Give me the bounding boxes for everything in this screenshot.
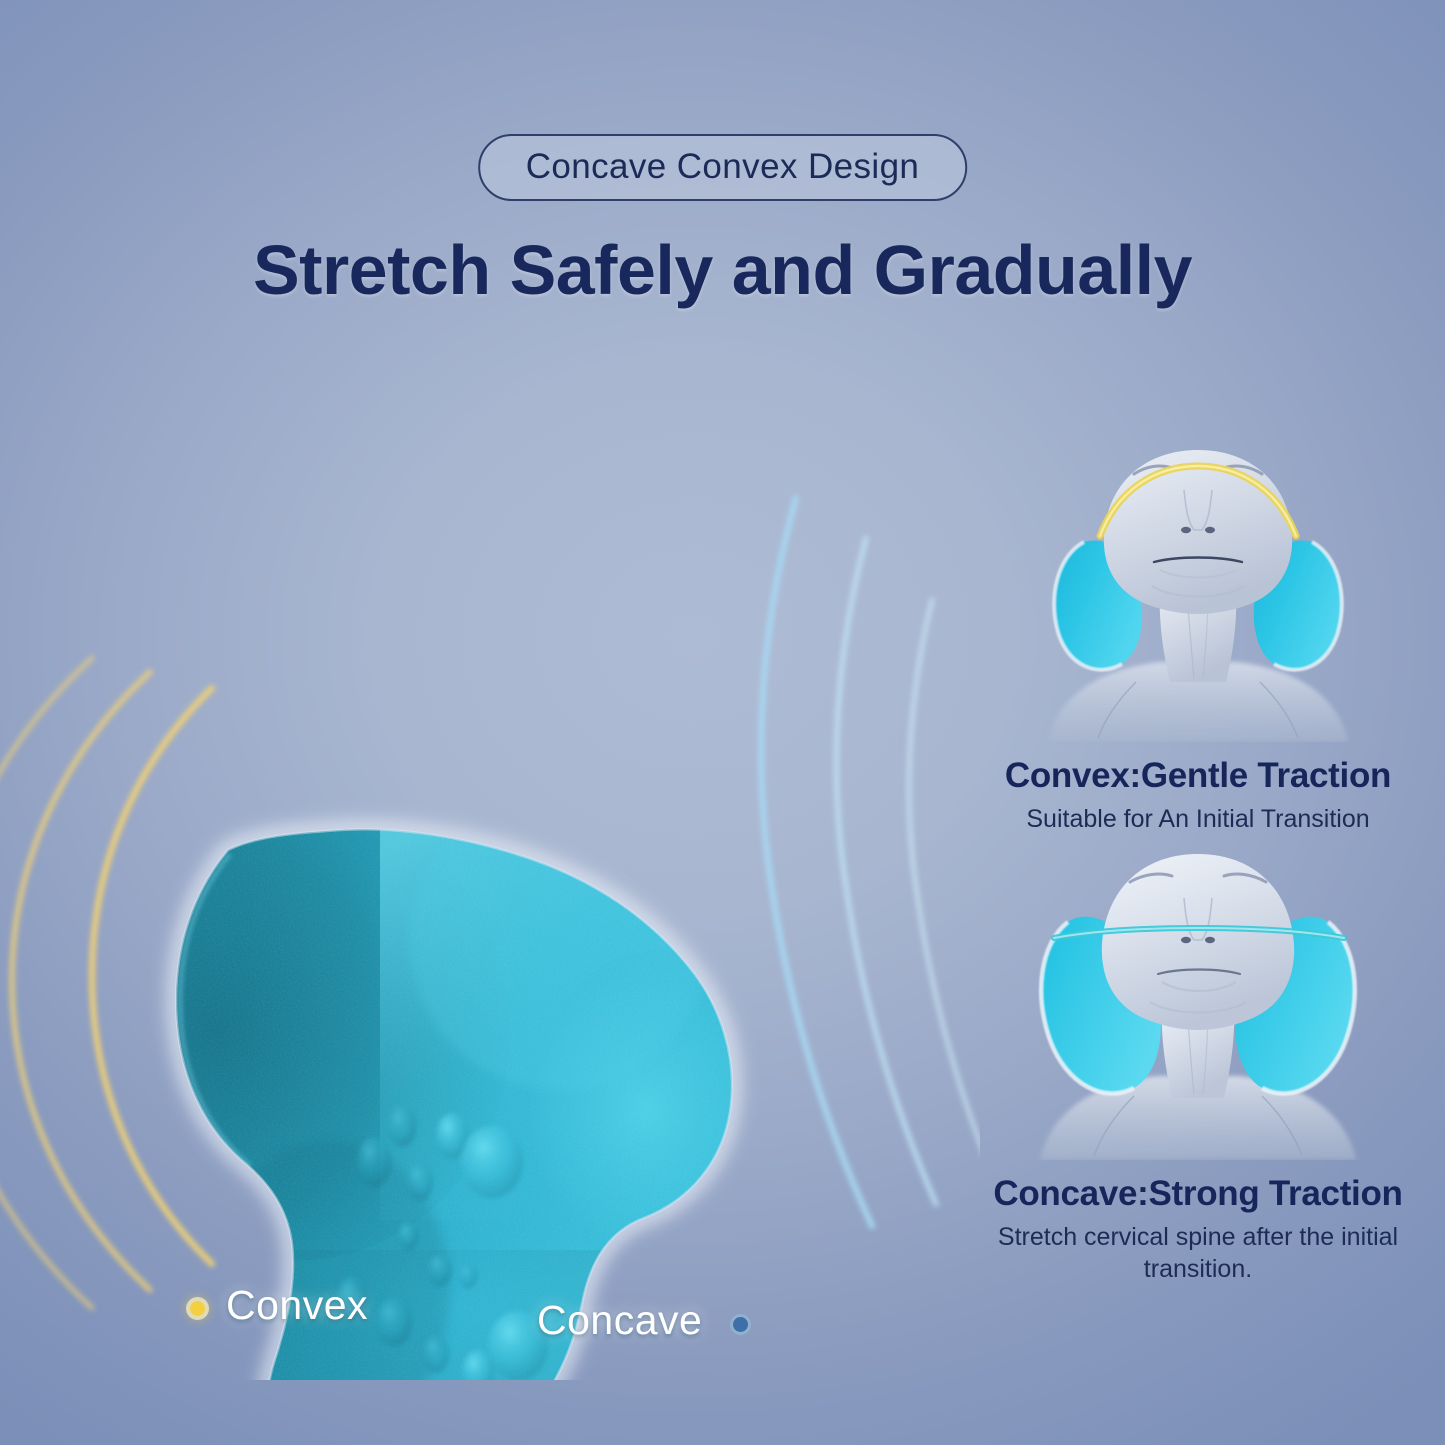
panel-title-concave: Concave:Strong Traction [988, 1174, 1408, 1214]
panel-concave-strong: Concave:Strong Traction Stretch cervical… [988, 848, 1408, 1285]
concave-head-svg [988, 848, 1408, 1160]
illustration-convex-gentle [988, 430, 1408, 742]
nostril-right [1205, 527, 1215, 533]
panel-convex-gentle: Convex:Gentle Traction Suitable for An I… [988, 430, 1408, 835]
nostril-left [1181, 937, 1191, 943]
product-illustration: Convex Concave [0, 420, 980, 1380]
nostril-right [1205, 937, 1215, 943]
convex-marker-dot [190, 1301, 205, 1316]
page-headline: Stretch Safely and Gradually [253, 228, 1192, 312]
panel-subtitle-concave: Stretch cervical spine after the initial… [988, 1221, 1408, 1285]
pillow-body [0, 790, 980, 1380]
concave-wave-arcs [761, 498, 980, 1226]
panel-subtitle-convex: Suitable for An Initial Transition [988, 803, 1408, 835]
product-infographic: Concave Convex Design Stretch Safely and… [0, 0, 1445, 1445]
badge-concave-convex-design: Concave Convex Design [478, 134, 968, 201]
concave-marker-dot [733, 1317, 748, 1332]
illustration-concave-strong [988, 848, 1408, 1160]
convex-head-svg [988, 430, 1408, 742]
panel-title-convex: Convex:Gentle Traction [988, 756, 1408, 796]
label-convex: Convex [226, 1282, 368, 1329]
head [1104, 450, 1292, 614]
product-svg [0, 420, 980, 1380]
label-concave: Concave [537, 1297, 702, 1344]
nostril-left [1181, 527, 1191, 533]
